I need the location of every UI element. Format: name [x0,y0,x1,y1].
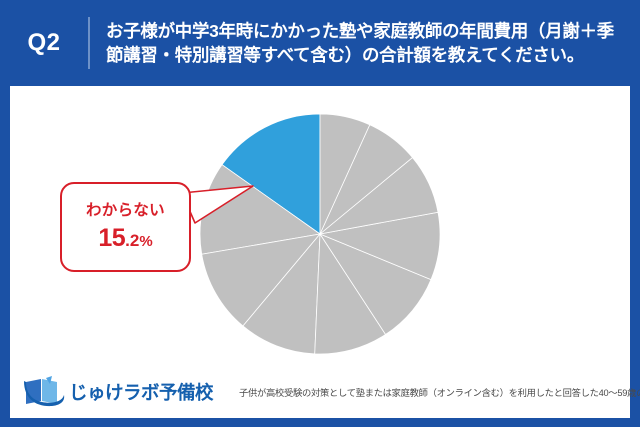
callout-box: わからない 15 .2 % [60,182,191,272]
question-number: Q2 [0,29,88,57]
brand-logo: じゅけラボ予備校 [22,375,213,409]
question-header: Q2 お子様が中学3年時にかかった塾や家庭教師の年間費用（月謝＋季節講習・特別講… [0,0,640,86]
brand-name: じゅけラボ予備校 [69,379,213,405]
footer: じゅけラボ予備校 子供が高校受験の対策として塾または家庭教師（オンライン含む）を… [10,366,630,418]
content-panel: わからない 15 .2 % じゅけラボ予備校 子供が高校受験の対策として塾または… [10,86,630,418]
pie-slices [200,114,440,354]
callout-value-integer: 15 [98,226,125,251]
question-text: お子様が中学3年時にかかった塾や家庭教師の年間費用（月謝＋季節講習・特別講習等す… [90,19,640,67]
book-swoosh-icon [22,375,66,409]
callout-label: わからない [86,203,165,219]
callout-value: 15 .2 % [98,226,152,251]
callout-value-decimal: .2 [125,232,139,249]
pie-chart-area: わからない 15 .2 % [10,86,630,366]
footnote-text: 子供が高校受験の対策として塾または家庭教師（オンライン含む）を利用したと回答した… [239,385,640,399]
callout-value-percent-sign: % [139,234,152,249]
